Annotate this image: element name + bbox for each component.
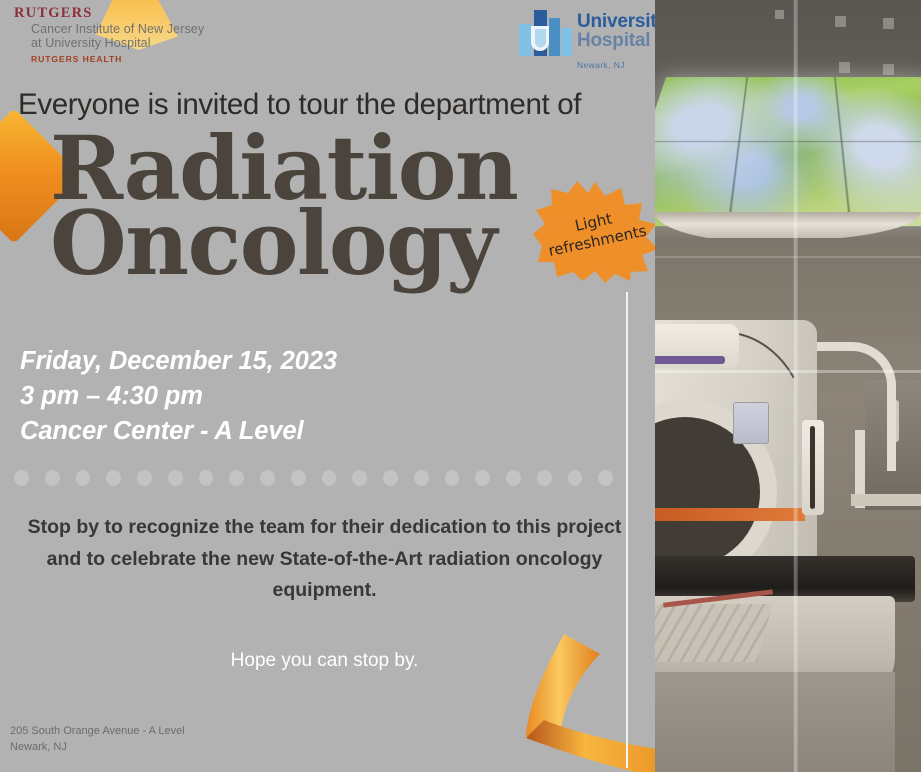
radiation-oncology-treatment-room-photo (655, 0, 921, 772)
event-location: Cancer Center - A Level (20, 414, 540, 449)
address-line-1: 205 South Orange Avenue - A Level (10, 724, 185, 740)
university-hospital-shield-mark-icon (519, 8, 573, 56)
event-details: Friday, December 15, 2023 3 pm – 4:30 pm… (20, 344, 540, 450)
white-vertical-rule (626, 292, 628, 768)
content-column: RUTGERS Cancer Institute of New Jersey a… (0, 0, 655, 772)
university-hospital-logo: University Hospital Newark, NJ (519, 4, 655, 68)
rutgers-logo-line2: at University Hospital (31, 36, 224, 51)
glass-reflection-overlay (655, 0, 921, 772)
flyer-canvas: RUTGERS Cancer Institute of New Jersey a… (0, 0, 921, 772)
uh-name-line2: Hospital (577, 31, 655, 51)
orange-ribbon-bottom-icon (524, 620, 655, 772)
footer-address: 205 South Orange Avenue - A Level Newark… (10, 724, 185, 756)
light-refreshments-badge: Light refreshments (533, 180, 655, 283)
uh-city-label: Newark, NJ (577, 60, 655, 70)
rutgers-health-tag: RUTGERS HEALTH (31, 55, 224, 64)
event-date: Friday, December 15, 2023 (20, 344, 540, 379)
body-copy: Stop by to recognize the team for their … (22, 512, 627, 607)
event-time: 3 pm – 4:30 pm (20, 379, 540, 414)
rutgers-logo-line1: Cancer Institute of New Jersey (31, 22, 224, 37)
university-hospital-wordmark: University Hospital Newark, NJ (577, 12, 655, 70)
rutgers-cinj-logo: RUTGERS Cancer Institute of New Jersey a… (14, 6, 224, 64)
rutgers-wordmark: RUTGERS (14, 6, 224, 21)
title-line-2: Oncology (50, 203, 610, 284)
dotted-divider (14, 470, 629, 490)
uh-name-line1: University (577, 12, 655, 31)
address-line-2: Newark, NJ (10, 740, 185, 756)
